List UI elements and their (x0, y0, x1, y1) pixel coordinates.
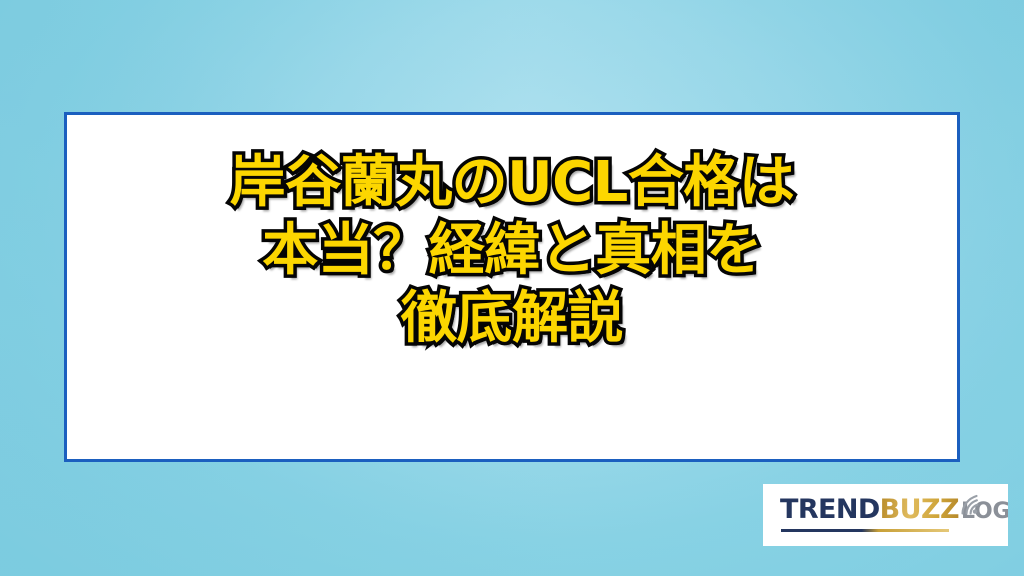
brand-word-trend: TREND (780, 494, 880, 525)
thumbnail-canvas: 岸谷蘭丸のUCL合格は 本当？経緯と真相を 徹底解説 TRENDBUZZLOG (0, 0, 1024, 576)
brand-logo-badge: TRENDBUZZLOG (763, 484, 1008, 546)
title-line-3: 徹底解説 (67, 285, 957, 353)
brand-underline-bar (781, 529, 949, 532)
title-card: 岸谷蘭丸のUCL合格は 本当？経緯と真相を 徹底解説 (64, 112, 960, 462)
title-text-block: 岸谷蘭丸のUCL合格は 本当？経緯と真相を 徹底解説 (67, 149, 957, 353)
signal-waves-icon (958, 492, 986, 516)
brand-word-buzz: BUZZ (880, 494, 959, 525)
brand-logo-inner: TRENDBUZZLOG (780, 495, 994, 537)
title-line-1: 岸谷蘭丸のUCL合格は (67, 149, 957, 217)
title-line-2: 本当？経緯と真相を (67, 217, 957, 285)
